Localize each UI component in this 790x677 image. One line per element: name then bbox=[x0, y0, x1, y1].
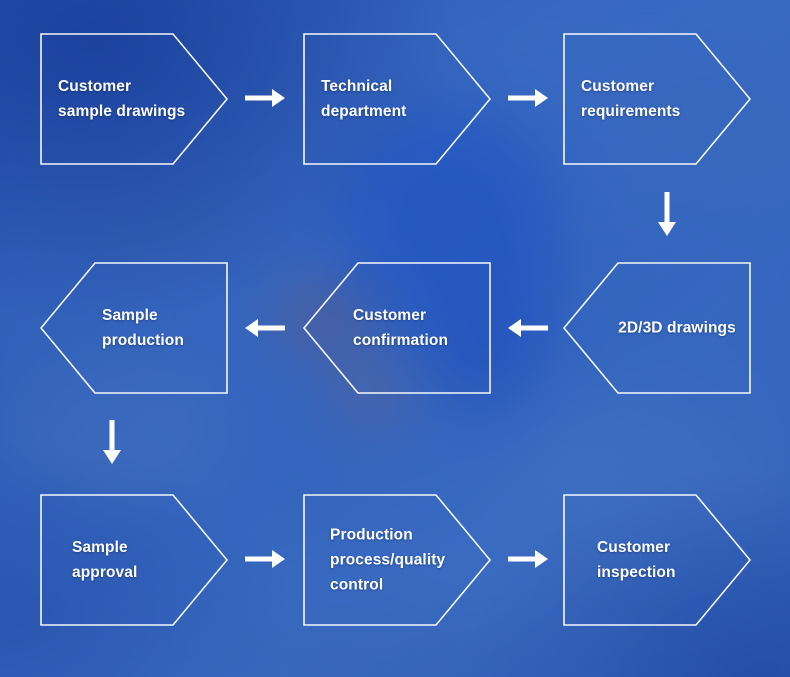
arrow-left-icon bbox=[508, 316, 548, 340]
arrow-right-icon bbox=[245, 86, 285, 110]
node-label: Customer inspection bbox=[597, 535, 676, 585]
arrow-right-icon bbox=[508, 86, 548, 110]
arrow-right-icon bbox=[245, 547, 285, 571]
node-customer-inspection[interactable]: Customer inspection bbox=[563, 494, 751, 626]
node-sample-production[interactable]: Sample production bbox=[40, 262, 228, 394]
arrow-down-icon bbox=[100, 420, 124, 464]
node-label: Customer confirmation bbox=[353, 303, 481, 353]
node-2d-3d-drawings[interactable]: 2D/3D drawings bbox=[563, 262, 751, 394]
arrow-down-icon bbox=[655, 192, 679, 236]
node-label: Technical department bbox=[321, 74, 406, 124]
node-label: Customer sample drawings bbox=[58, 74, 185, 124]
node-label: Customer requirements bbox=[581, 74, 680, 124]
node-customer-sample-drawings[interactable]: Customer sample drawings bbox=[40, 33, 228, 165]
node-production-process-quality-control[interactable]: Production process/quality control bbox=[303, 494, 491, 626]
node-label: Sample production bbox=[102, 303, 184, 353]
arrow-right-icon bbox=[508, 547, 548, 571]
node-sample-approval[interactable]: Sample approval bbox=[40, 494, 228, 626]
node-customer-requirements[interactable]: Customer requirements bbox=[563, 33, 751, 165]
arrow-left-icon bbox=[245, 316, 285, 340]
node-label: Sample approval bbox=[72, 535, 137, 585]
node-label: 2D/3D drawings bbox=[603, 316, 751, 341]
node-label: Production process/quality control bbox=[330, 523, 445, 598]
node-technical-department[interactable]: Technical department bbox=[303, 33, 491, 165]
node-customer-confirmation[interactable]: Customer confirmation bbox=[303, 262, 491, 394]
flowchart-canvas: Customer sample drawings Technical depar… bbox=[0, 0, 790, 677]
